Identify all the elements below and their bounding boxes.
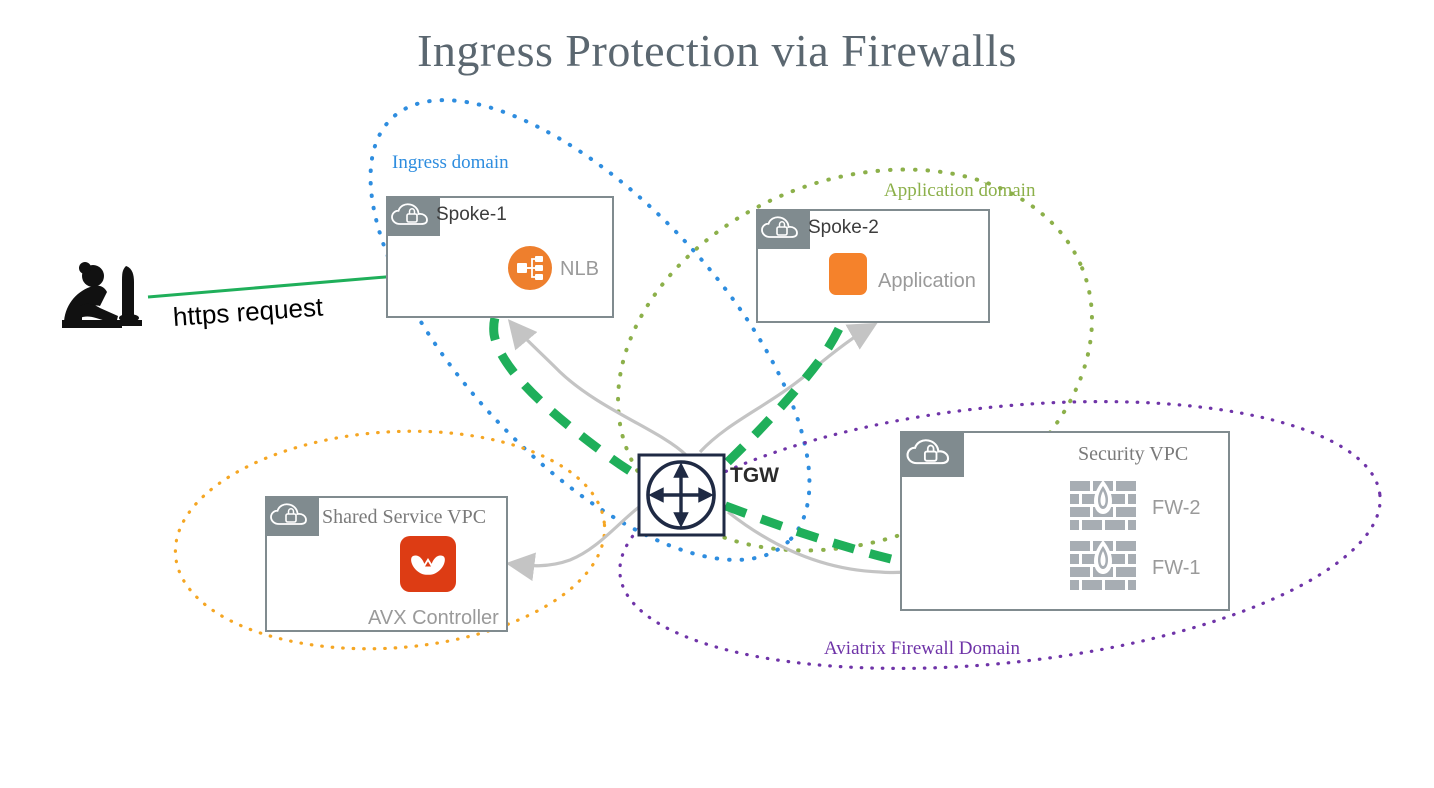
nlb-label: NLB xyxy=(560,258,599,281)
vpc-title-spoke-1: Spoke-1 xyxy=(436,204,507,226)
fw-1-label: FW-1 xyxy=(1152,557,1201,580)
firewall-icon-fw-2[interactable] xyxy=(1070,479,1136,540)
cloud-lock-icon-security xyxy=(902,433,964,477)
user-at-computer-icon xyxy=(62,262,142,328)
connector-tgw-to-spoke1 xyxy=(512,324,686,455)
diagram-svg xyxy=(0,0,1434,788)
vpc-title-spoke-2: Spoke-2 xyxy=(808,217,879,239)
application-icon[interactable] xyxy=(828,252,868,301)
vpc-title-shared-service: Shared Service VPC xyxy=(322,506,486,529)
avx-controller-label: AVX Controller xyxy=(368,607,499,630)
cloud-lock-icon-spoke-1 xyxy=(388,198,440,236)
cloud-lock-icon-spoke-2 xyxy=(758,211,810,249)
fw-2-label: FW-2 xyxy=(1152,497,1201,520)
application-label: Application xyxy=(878,270,976,293)
firewall-icon-fw-1[interactable] xyxy=(1070,539,1136,600)
diagram-canvas: Ingress Protection via Firewalls xyxy=(0,0,1434,788)
domain-label-firewall: Aviatrix Firewall Domain xyxy=(824,638,1020,660)
domain-label-application: Application domain xyxy=(884,180,1035,202)
aviatrix-logo-icon[interactable] xyxy=(400,536,456,597)
tgw-icon xyxy=(639,455,724,535)
nlb-icon[interactable] xyxy=(508,246,552,295)
tgw-label: TGW xyxy=(730,464,779,488)
vpc-title-security: Security VPC xyxy=(1078,443,1188,466)
connector-tgw-to-shared-service xyxy=(512,500,648,566)
domain-label-ingress: Ingress domain xyxy=(392,152,509,174)
cloud-lock-icon-shared-service xyxy=(267,498,319,536)
